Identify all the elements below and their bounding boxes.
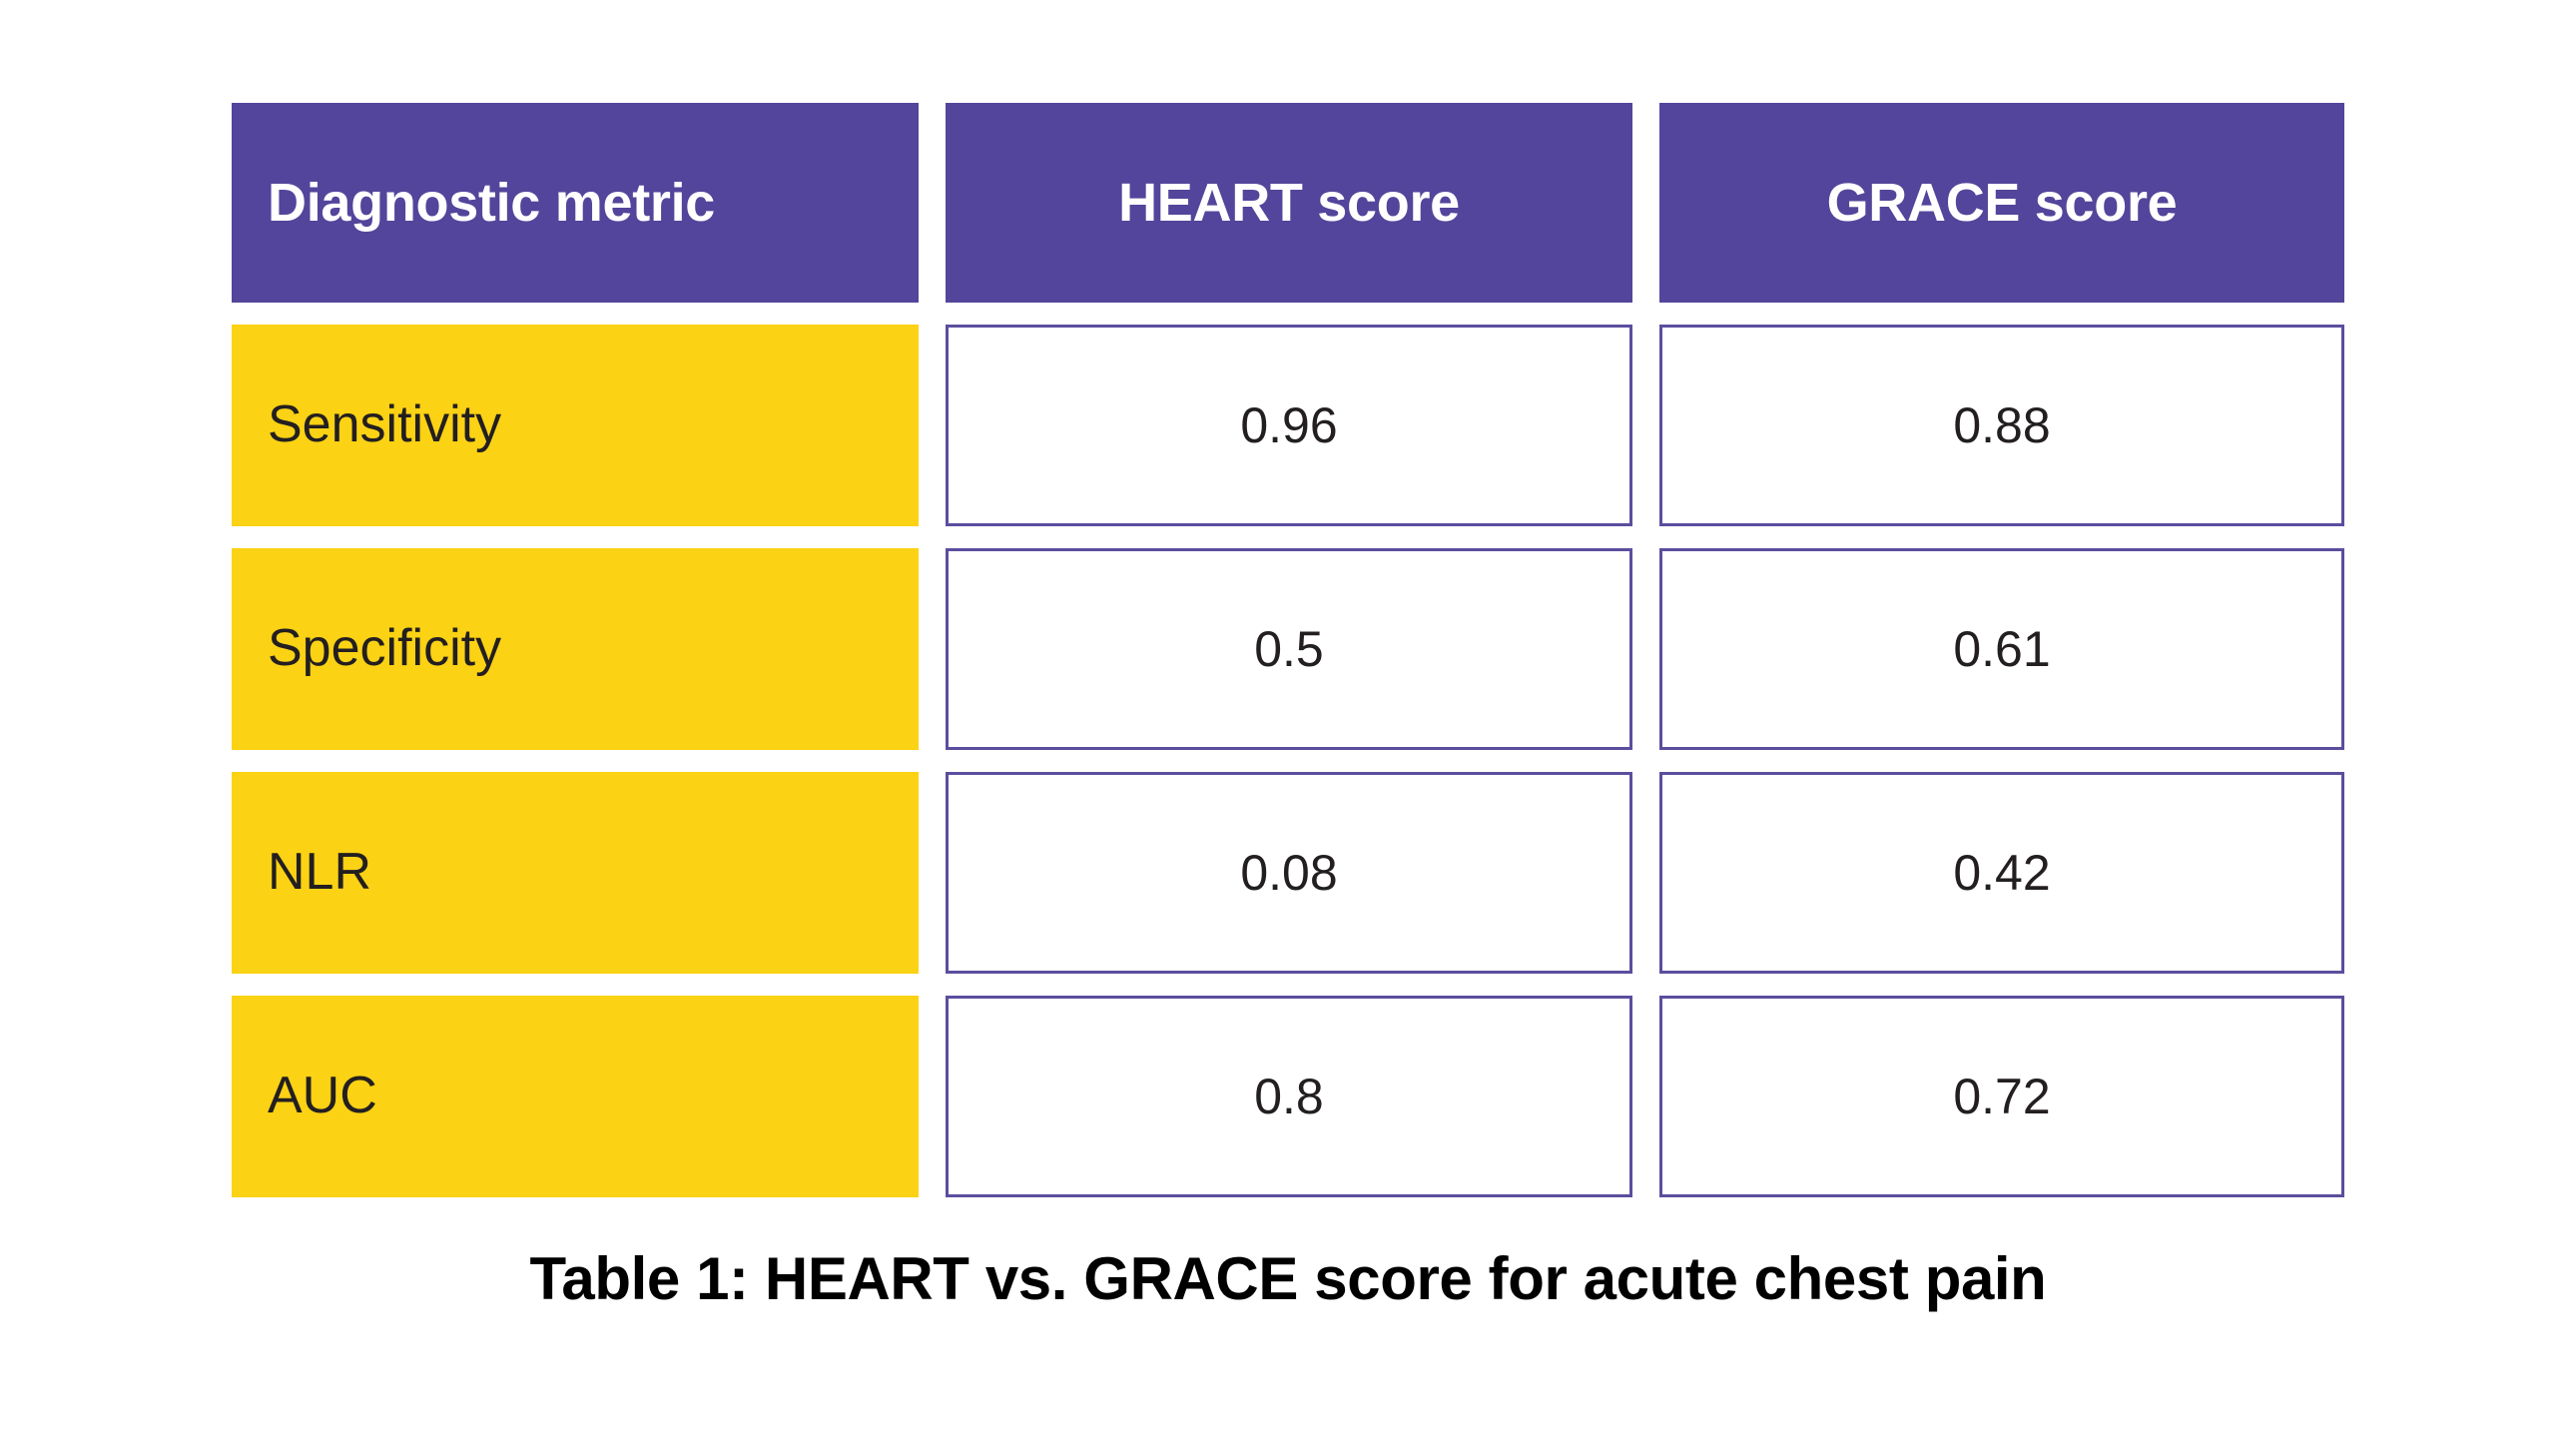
- table-caption: Table 1: HEART vs. GRACE score for acute…: [0, 1246, 2576, 1312]
- metric-cell: Specificity: [232, 548, 919, 750]
- value-cell-grace: 0.42: [1659, 772, 2344, 974]
- metric-cell: AUC: [232, 996, 919, 1197]
- metric-label: NLR: [268, 844, 371, 901]
- value-cell-heart: 0.08: [946, 772, 1632, 974]
- value-cell-grace: 0.61: [1659, 548, 2344, 750]
- header-cell-grace-score: GRACE score: [1659, 103, 2344, 303]
- value-grace: 0.88: [1953, 398, 2050, 453]
- value-grace: 0.42: [1953, 846, 2050, 901]
- value-cell-grace: 0.72: [1659, 996, 2344, 1197]
- table-row: Sensitivity 0.96 0.88: [232, 325, 2344, 526]
- metric-label: Specificity: [268, 620, 501, 677]
- header-label-diagnostic-metric: Diagnostic metric: [268, 175, 715, 232]
- header-cell-diagnostic-metric: Diagnostic metric: [232, 103, 919, 303]
- table-row: NLR 0.08 0.42: [232, 772, 2344, 974]
- metric-cell: Sensitivity: [232, 325, 919, 526]
- value-cell-heart: 0.8: [946, 996, 1632, 1197]
- table-figure: Diagnostic metric HEART score GRACE scor…: [0, 0, 2576, 1440]
- metric-label: AUC: [268, 1068, 377, 1124]
- value-cell-heart: 0.96: [946, 325, 1632, 526]
- header-cell-heart-score: HEART score: [946, 103, 1632, 303]
- table-caption-text: Table 1: HEART vs. GRACE score for acute…: [530, 1246, 2047, 1312]
- header-label-heart-score: HEART score: [1118, 175, 1460, 232]
- value-heart: 0.8: [1254, 1070, 1324, 1124]
- metric-label: Sensitivity: [268, 396, 501, 453]
- header-label-grace-score: GRACE score: [1827, 175, 2178, 232]
- metric-cell: NLR: [232, 772, 919, 974]
- value-cell-grace: 0.88: [1659, 325, 2344, 526]
- table-row: AUC 0.8 0.72: [232, 996, 2344, 1197]
- value-heart: 0.08: [1240, 846, 1337, 901]
- value-heart: 0.96: [1240, 398, 1337, 453]
- value-heart: 0.5: [1254, 622, 1324, 677]
- table-header-row: Diagnostic metric HEART score GRACE scor…: [232, 103, 2344, 303]
- value-grace: 0.72: [1953, 1070, 2050, 1124]
- value-cell-heart: 0.5: [946, 548, 1632, 750]
- table-row: Specificity 0.5 0.61: [232, 548, 2344, 750]
- comparison-table: Diagnostic metric HEART score GRACE scor…: [232, 103, 2344, 1197]
- value-grace: 0.61: [1953, 622, 2050, 677]
